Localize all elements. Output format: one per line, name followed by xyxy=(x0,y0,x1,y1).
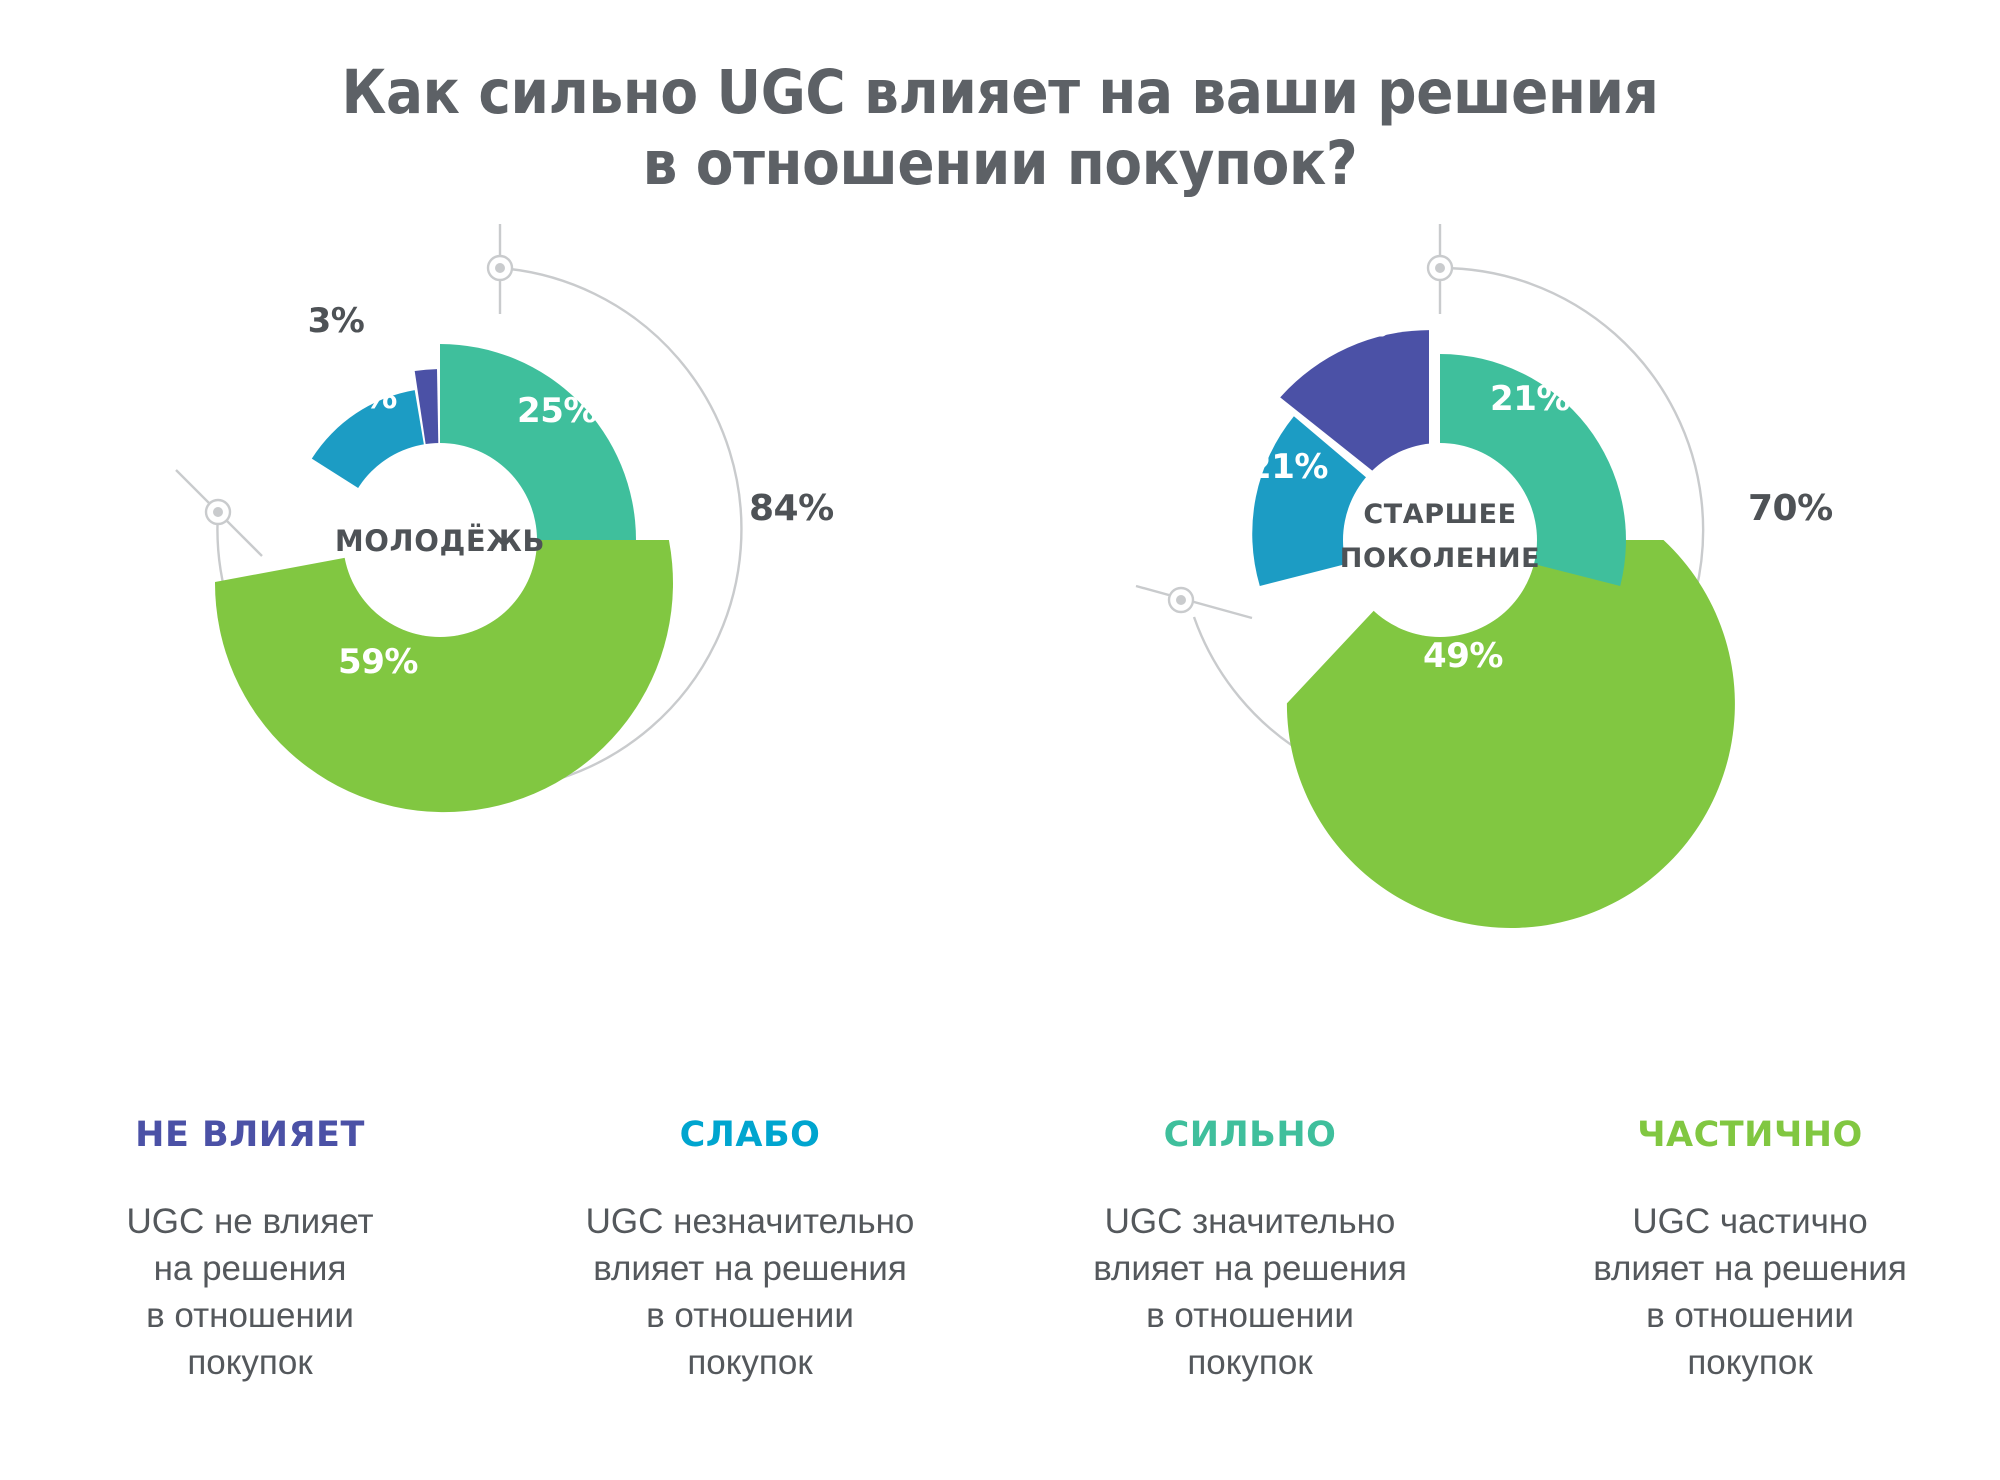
page-title-line-1: Как сильно UGC влияет на ваши решения xyxy=(100,58,1900,129)
segment-value-youth-strong: 25% xyxy=(517,391,597,431)
legend-desc-weak: UGC незначительновлияет на решенияв отно… xyxy=(518,1199,982,1387)
segment-value-youth-weak: 13% xyxy=(317,377,397,417)
segment-value-youth-no-effect: 3% xyxy=(308,301,365,341)
segment-value-older-no-effect: 9% xyxy=(1332,305,1389,345)
legend-title-strong: СИЛЬНО xyxy=(1018,1115,1482,1155)
legend-item-partial[interactable]: ЧАСТИЧНО UGC частичновлияет на решенияв … xyxy=(1500,1115,2000,1387)
legend: НЕ ВЛИЯЕТ UGC не влияетна решенияв отнош… xyxy=(0,1115,2000,1387)
donut-hole-older xyxy=(1343,443,1537,637)
donut-chart-older: 9% 21% 21% 49% 70% СТАРШЕЕ ПОКОЛЕНИЕ xyxy=(940,210,1940,900)
segment-value-older-partial: 49% xyxy=(1423,636,1503,676)
segment-value-older-strong: 21% xyxy=(1490,379,1570,419)
legend-desc-no-effect: UGC не влияетна решенияв отношениипокупо… xyxy=(18,1199,482,1387)
legend-desc-partial: UGC частичновлияет на решенияв отношении… xyxy=(1518,1199,1982,1387)
legend-desc-strong: UGC значительновлияет на решенияв отноше… xyxy=(1018,1199,1482,1387)
donut-chart-youth: 3% 13% 25% 59% 84% МОЛОДЁЖЬ xyxy=(0,210,1000,900)
center-label-youth: МОЛОДЁЖЬ xyxy=(335,524,545,558)
legend-item-no-effect[interactable]: НЕ ВЛИЯЕТ UGC не влияетна решенияв отнош… xyxy=(0,1115,500,1387)
infographic-page: Как сильно UGC влияет на ваши решения в … xyxy=(0,0,2000,1480)
center-label-older-line-1: СТАРШЕЕ xyxy=(1363,499,1516,530)
legend-title-weak: СЛАБО xyxy=(518,1115,982,1155)
page-title-line-2: в отношении покупок? xyxy=(100,129,1900,200)
legend-item-strong[interactable]: СИЛЬНО UGC значительновлияет на решенияв… xyxy=(1000,1115,1500,1387)
page-title: Как сильно UGC влияет на ваши решения в … xyxy=(100,58,1900,200)
charts-row: 3% 13% 25% 59% 84% МОЛОДЁЖЬ xyxy=(0,210,2000,900)
legend-title-partial: ЧАСТИЧНО xyxy=(1518,1115,1982,1155)
legend-item-weak[interactable]: СЛАБО UGC незначительновлияет на решения… xyxy=(500,1115,1000,1387)
legend-title-no-effect: НЕ ВЛИЯЕТ xyxy=(18,1115,482,1155)
outer-callout-older: 70% xyxy=(1748,488,1833,529)
center-label-older-line-2: ПОКОЛЕНИЕ xyxy=(1340,543,1540,574)
segment-value-youth-partial: 59% xyxy=(338,642,418,682)
outer-callout-youth: 84% xyxy=(749,488,834,529)
segment-value-older-weak: 21% xyxy=(1248,447,1328,487)
